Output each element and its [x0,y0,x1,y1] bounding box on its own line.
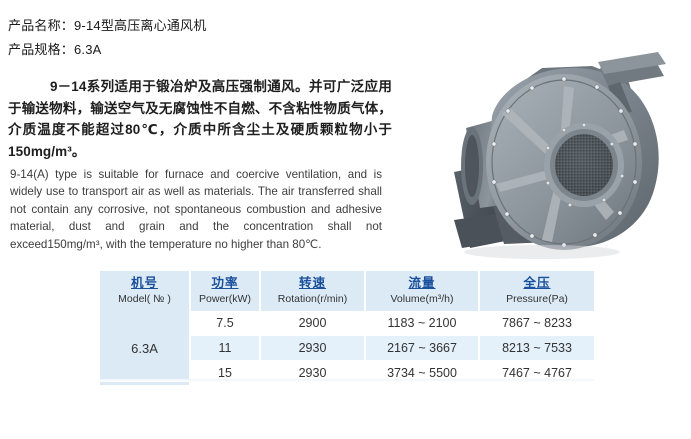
product-spec-line: 产品规格：6.3A [8,38,428,62]
column-header-model-cn: 机号 [102,275,187,291]
cell-model: 6.3A [100,311,190,386]
table-bottom-shadow [100,379,594,382]
column-header-volume-cn: 流量 [368,275,476,291]
table-row: 6.3A 7.5 2900 1183 ~ 2100 7867 ~ 8233 [100,311,594,336]
fan-mesh-shading [555,134,613,196]
product-photo [392,52,682,264]
column-header-model: 机号 Model( № ) [100,271,190,311]
specification-table: 机号 Model( № ) 功率 Power(kW) 转速 Rotation(r… [100,271,594,386]
column-header-rotation: 转速 Rotation(r/min) [260,271,365,311]
column-header-power-cn: 功率 [193,275,257,291]
column-header-pressure: 全压 Pressure(Pa) [479,271,594,311]
english-description: 9-14(A) type is suitable for furnace and… [10,166,382,253]
fan-inlet-bore [465,135,479,197]
cell-pressure: 7867 ~ 8233 [479,311,594,336]
fan-ground-shadow [464,245,620,259]
column-header-rotation-cn: 转速 [263,275,362,291]
column-header-model-en: Model( № ) [102,292,187,306]
cell-rotation: 2900 [260,311,365,336]
cell-volume: 1183 ~ 2100 [365,311,479,336]
column-header-volume: 流量 Volume(m³/h) [365,271,479,311]
cell-power: 7.5 [190,311,260,336]
cell-pressure: 8213 ~ 7533 [479,336,594,361]
product-spec-page: 产品名称：9-14型高压离心通风机 产品规格：6.3A 9－14系列适用于锻冶炉… [0,0,691,439]
product-meta: 产品名称：9-14型高压离心通风机 产品规格：6.3A [8,14,428,62]
cell-rotation: 2930 [260,336,365,361]
column-header-power: 功率 Power(kW) [190,271,260,311]
cell-volume: 2167 ~ 3667 [365,336,479,361]
column-header-volume-en: Volume(m³/h) [368,292,476,306]
column-header-power-en: Power(kW) [193,292,257,306]
centrifugal-fan-illustration [392,52,682,264]
product-name-line: 产品名称：9-14型高压离心通风机 [8,14,428,38]
column-header-rotation-en: Rotation(r/min) [263,292,362,306]
column-header-pressure-en: Pressure(Pa) [482,292,592,306]
cell-power: 11 [190,336,260,361]
chinese-description: 9－14系列适用于锻冶炉及高压强制通风。并可广泛应用于输送物料，输送空气及无腐蚀… [8,76,392,162]
table-header-row: 机号 Model( № ) 功率 Power(kW) 转速 Rotation(r… [100,271,594,311]
column-header-pressure-cn: 全压 [482,275,592,291]
